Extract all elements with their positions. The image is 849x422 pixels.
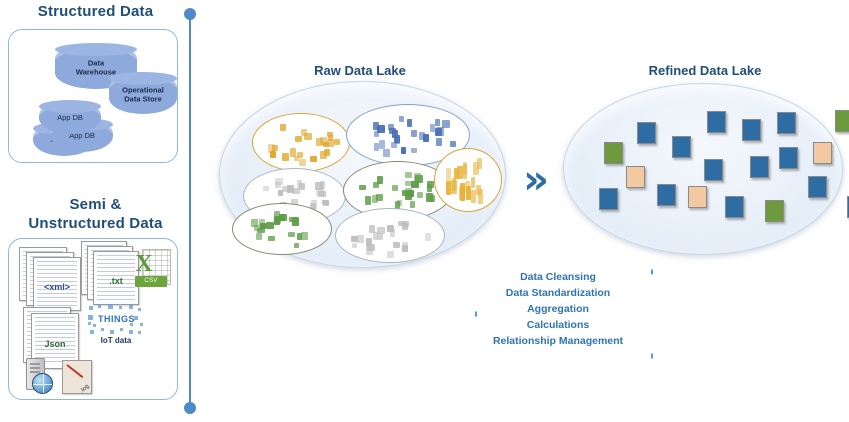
structured-data-panel: Data Warehouse Operational Data Store Ap… [8, 29, 178, 163]
refined-data-square [604, 142, 623, 164]
txt-label: .txt [94, 276, 138, 286]
web-server-icon [22, 358, 54, 396]
brace-left-icon: { [463, 262, 477, 366]
process-step: Data Standardization [477, 285, 639, 301]
data-chip [446, 168, 451, 181]
flow-arrow-icon: » [516, 160, 556, 200]
cluster-gray-2 [335, 208, 445, 263]
data-chip [320, 181, 326, 189]
timeline-dot-top [184, 8, 196, 20]
data-chip [373, 232, 378, 240]
json-label: Json [32, 339, 78, 349]
data-chip [357, 235, 363, 243]
cluster-gold-2 [434, 148, 502, 212]
data-chip [427, 184, 432, 191]
data-chip [411, 148, 418, 153]
process-step: Data Cleansing [477, 269, 639, 285]
data-chip [446, 181, 450, 195]
data-chip [454, 168, 460, 180]
refined-data-square [765, 200, 784, 222]
process-step-list: Data CleansingData StandardizationAggreg… [477, 269, 639, 349]
refined-data-lake [563, 83, 843, 255]
data-chip [256, 233, 262, 240]
cyl-label-line2: Data Store [124, 94, 162, 103]
data-chip [301, 232, 307, 240]
data-chip [268, 236, 275, 242]
xml-label: <xml> [34, 282, 80, 292]
data-chip [436, 127, 444, 136]
data-chip [401, 147, 407, 154]
data-chip [352, 243, 358, 248]
semi-title-line1: Semi & [69, 196, 121, 213]
refined-data-square [779, 147, 798, 169]
csv-label: CSV [135, 276, 167, 287]
data-chip [451, 180, 457, 194]
timeline-dot-bottom [184, 402, 196, 414]
data-chip [425, 233, 431, 241]
refined-data-square [704, 159, 723, 181]
cylinder-app-db-1: App DB [39, 100, 101, 134]
data-chip [294, 243, 299, 248]
data-chip [257, 228, 264, 233]
refined-data-square [742, 119, 761, 141]
data-chip [274, 217, 280, 225]
brace-right-icon: } [639, 262, 653, 366]
data-chip [442, 120, 450, 128]
data-chip [423, 134, 430, 142]
iot-data-icon: THINGS IoT data [86, 303, 146, 349]
data-chip [436, 138, 441, 146]
txt-document-stack: .txt [81, 241, 139, 303]
refined-data-square [626, 166, 645, 188]
data-chip [320, 137, 326, 146]
data-chip [405, 181, 412, 186]
data-chip [290, 148, 296, 157]
cluster-gold-1 [252, 113, 350, 172]
data-chip [359, 185, 366, 190]
refined-data-square [707, 111, 726, 133]
data-chip [268, 144, 275, 153]
data-chip [373, 182, 380, 188]
data-chip [397, 200, 402, 206]
excel-x-glyph: X [133, 252, 155, 276]
cyl-label-line1: Operational [122, 85, 164, 94]
iot-data-label: IoT data [86, 336, 146, 345]
data-chip [323, 200, 329, 206]
data-chip [295, 136, 302, 142]
data-chip [266, 222, 273, 229]
globe-icon [32, 373, 53, 394]
pen-icon [66, 364, 83, 378]
data-chip [463, 162, 467, 175]
data-chip [299, 183, 305, 190]
refined-data-square [750, 156, 769, 178]
data-chip [287, 185, 295, 194]
semi-title-line2: Unstructured Data [28, 215, 162, 232]
vertical-timeline-line [189, 14, 191, 408]
log-file-icon: .log [62, 360, 92, 394]
data-chip [402, 242, 408, 249]
semi-unstructured-data-title: Semi & Unstructured Data [8, 195, 183, 233]
data-chip [310, 156, 317, 162]
refined-data-square [688, 186, 707, 208]
process-step: Calculations [477, 317, 639, 333]
data-chip [435, 119, 440, 126]
data-chip [280, 124, 286, 130]
xml-document-stack: <xml> [19, 247, 81, 309]
cluster-green-2 [232, 203, 332, 255]
data-chip [318, 191, 325, 197]
data-chip [334, 139, 339, 145]
data-chip [366, 246, 373, 254]
data-chip [374, 131, 379, 138]
data-chip [373, 122, 379, 130]
refined-data-square [813, 142, 832, 164]
data-chip [387, 251, 394, 258]
data-chip [324, 149, 330, 157]
data-chip [301, 129, 306, 136]
data-chip [405, 172, 412, 177]
cyl-label-line1: Data [88, 58, 104, 67]
data-chip [392, 185, 398, 191]
refined-data-square [599, 188, 618, 210]
data-chip [402, 221, 408, 227]
data-chip [389, 128, 396, 133]
data-chip [411, 130, 417, 137]
data-chip [383, 149, 390, 157]
refined-data-square [835, 110, 849, 132]
transformation-process-box: { } Data CleansingData StandardizationAg… [463, 262, 653, 366]
data-chip [365, 196, 371, 205]
cyl-label: App DB [39, 113, 101, 122]
data-chip [292, 217, 299, 226]
cylinder-operational-data-store: Operational Data Store [109, 72, 177, 114]
data-chip [297, 152, 303, 158]
csv-file-icon: X CSV [133, 249, 169, 289]
data-chip [251, 219, 258, 227]
data-chip [476, 185, 481, 195]
data-chip [282, 153, 289, 161]
log-label: .log [80, 384, 91, 395]
refined-data-square [777, 112, 796, 134]
data-chip [460, 187, 464, 200]
data-chip [417, 192, 423, 198]
data-chip [275, 182, 281, 188]
structured-data-title: Structured Data [8, 3, 183, 20]
data-chip [411, 181, 419, 188]
data-chip [473, 162, 479, 175]
data-chip [288, 232, 295, 237]
data-chip [407, 119, 412, 126]
refined-data-square [808, 176, 827, 198]
process-step: Aggregation [477, 301, 639, 317]
data-chip [374, 143, 379, 151]
iot-word-cloud: THINGS [86, 303, 146, 336]
data-chip [414, 173, 421, 182]
data-chip [450, 141, 456, 148]
data-chip [393, 242, 401, 248]
data-chip [372, 195, 378, 203]
data-chip [281, 214, 287, 221]
data-chip [426, 193, 433, 202]
data-chip [379, 140, 385, 149]
data-chip [399, 116, 404, 122]
data-chip [471, 190, 476, 203]
refined-data-lake-title: Refined Data Lake [585, 63, 825, 78]
refined-data-square [725, 196, 744, 218]
process-step: Relationship Management [477, 333, 639, 349]
raw-data-lake-title: Raw Data Lake [245, 63, 475, 78]
data-chip [407, 190, 414, 197]
cyl-label-line2: Warehouse [76, 67, 116, 76]
data-chip [410, 201, 415, 208]
data-chip [390, 229, 395, 236]
data-chip [299, 159, 306, 166]
refined-data-square [637, 122, 656, 144]
refined-data-square [672, 136, 691, 158]
refined-data-square [657, 184, 676, 206]
data-chip [471, 177, 475, 189]
data-chip [263, 186, 269, 191]
